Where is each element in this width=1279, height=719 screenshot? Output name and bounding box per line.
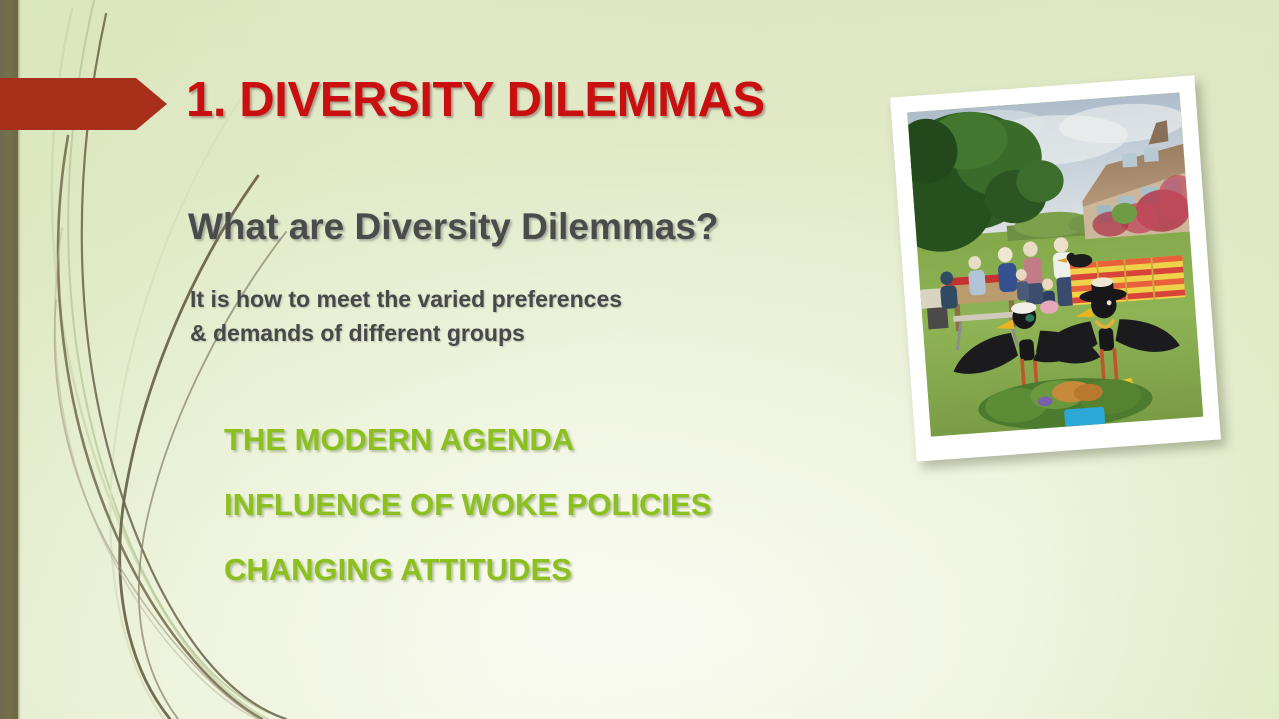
topic-list-item-3: CHANGING ATTITUDES (224, 554, 711, 585)
photo-frame (890, 75, 1221, 461)
topic-list: THE MODERN AGENDA INFLUENCE OF WOKE POLI… (224, 424, 711, 585)
page-title: 1. DIVERSITY DILEMMAS (186, 72, 765, 128)
village-fete-photo-icon (907, 92, 1203, 436)
topic-list-item-2: INFLUENCE OF WOKE POLICIES (224, 489, 711, 520)
right-arrow-banner-icon (0, 78, 167, 130)
section-subheading: What are Diversity Dilemmas? (188, 206, 719, 248)
body-line-2: & demands of different groups (190, 316, 622, 350)
body-line-1: It is how to meet the varied preferences (190, 282, 622, 316)
photo-image (907, 92, 1203, 436)
presentation-slide: 1. DIVERSITY DILEMMAS What are Diversity… (0, 0, 1279, 719)
topic-list-item-1: THE MODERN AGENDA (224, 424, 711, 455)
body-paragraph: It is how to meet the varied preferences… (190, 282, 622, 350)
